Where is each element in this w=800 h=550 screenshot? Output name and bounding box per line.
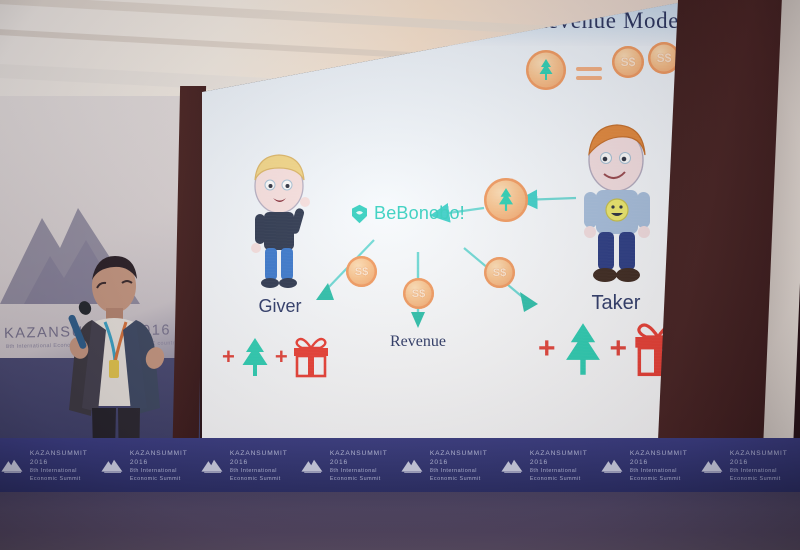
- tree-coin: [484, 178, 528, 222]
- barrier-logo-subtitle: 8th International Economic Summit: [630, 468, 681, 482]
- barrier-logo-subtitle: 8th International Economic Summit: [130, 468, 181, 482]
- barrier-logo-text: KAZANSUMMIT 2016 8th International Econo…: [230, 449, 300, 484]
- barrier-logo-title: KAZANSUMMIT 2016: [30, 449, 100, 468]
- barrier-logo-unit: KAZANSUMMIT 2016 8th International Econo…: [600, 449, 700, 484]
- kazansummit-logo-icon: [500, 455, 524, 477]
- kazansummit-logo-icon: [100, 455, 124, 477]
- barrier-logo-text: KAZANSUMMIT 2016 8th International Econo…: [430, 449, 500, 484]
- plus-sign: +: [538, 334, 556, 364]
- flow-coin-center-label: S$: [412, 288, 425, 300]
- barrier-logo-text: KAZANSUMMIT 2016 8th International Econo…: [30, 449, 100, 484]
- barrier-logo-unit: KAZANSUMMIT 2016 8th International Econo…: [700, 449, 800, 484]
- barrier-logo-unit: KAZANSUMMIT 2016 8th International Econo…: [200, 449, 300, 484]
- kazansummit-logo-icon: [600, 455, 624, 477]
- taker-label: Taker: [564, 292, 668, 315]
- barrier-logo-title: KAZANSUMMIT 2016: [630, 449, 700, 468]
- plus-sign: +: [610, 334, 628, 364]
- barrier-logo-title: KAZANSUMMIT 2016: [730, 449, 800, 468]
- barrier-logo-unit: KAZANSUMMIT 2016 8th International Econo…: [500, 449, 600, 484]
- plus-sign: +: [275, 346, 288, 368]
- giver-reward-group: + +: [222, 336, 331, 378]
- tree-icon: [560, 320, 606, 378]
- plus-sign: +: [222, 346, 235, 368]
- bebonobo-brand: BeBonobo!: [351, 203, 465, 224]
- barrier-logo-subtitle: 8th International Economic Summit: [530, 468, 581, 482]
- shield-icon: [351, 204, 368, 224]
- barrier-logo-unit: KAZANSUMMIT 2016 8th International Econo…: [100, 449, 200, 484]
- barrier-logo-title: KAZANSUMMIT 2016: [130, 449, 200, 468]
- revenue-label: Revenue: [368, 333, 468, 351]
- barrier-logo-text: KAZANSUMMIT 2016 8th International Econo…: [730, 449, 800, 484]
- barrier-logo-text: KAZANSUMMIT 2016 8th International Econo…: [330, 449, 400, 484]
- flow-coin-left: S$: [346, 256, 377, 287]
- flow-coin-left-label: S$: [355, 266, 368, 278]
- flow-coin-center: S$: [403, 278, 434, 309]
- bebonobo-brand-label: BeBonobo!: [374, 203, 465, 224]
- barrier-logo-row: KAZANSUMMIT 2016 8th International Econo…: [0, 438, 800, 494]
- floor-reflection: [0, 492, 800, 550]
- flow-coin-right: S$: [484, 257, 515, 288]
- barrier-logo-subtitle: 8th International Economic Summit: [330, 468, 381, 482]
- kazansummit-logo-icon: [0, 455, 24, 477]
- taker-character: [564, 118, 668, 288]
- arrow-brand-to-taker-head: [520, 292, 538, 312]
- kazansummit-logo-icon: [300, 455, 324, 477]
- kazansummit-logo-icon: [700, 455, 724, 477]
- kazansummit-logo-icon: [400, 455, 424, 477]
- giver-character: [236, 150, 322, 290]
- barrier-logo-unit: KAZANSUMMIT 2016 8th International Econo…: [0, 449, 100, 484]
- giver-label: Giver: [232, 296, 328, 317]
- barrier-logo-title: KAZANSUMMIT 2016: [430, 449, 500, 468]
- barrier-logo-title: KAZANSUMMIT 2016: [330, 449, 400, 468]
- barrier-logo-text: KAZANSUMMIT 2016 8th International Econo…: [130, 449, 200, 484]
- presentation-photo: KAZANSUMMIT 2016 8th International Econo…: [0, 0, 800, 550]
- barrier-logo-subtitle: 8th International Economic Summit: [730, 468, 781, 482]
- tree-icon: [238, 336, 272, 378]
- stage-barrier: KAZANSUMMIT 2016 8th International Econo…: [0, 438, 800, 494]
- barrier-logo-title: KAZANSUMMIT 2016: [530, 449, 600, 468]
- gift-icon: [291, 336, 331, 378]
- barrier-logo-subtitle: 8th International Economic Summit: [230, 468, 281, 482]
- barrier-logo-subtitle: 8th International Economic Summit: [430, 468, 481, 482]
- barrier-logo-text: KAZANSUMMIT 2016 8th International Econo…: [630, 449, 700, 484]
- arrow-revenue-down-head: [411, 312, 425, 328]
- barrier-logo-title: KAZANSUMMIT 2016: [230, 449, 300, 468]
- barrier-logo-unit: KAZANSUMMIT 2016 8th International Econo…: [400, 449, 500, 484]
- flow-coin-right-label: S$: [493, 267, 506, 279]
- barrier-logo-subtitle: 8th International Economic Summit: [30, 468, 81, 482]
- stage-floor: [0, 492, 800, 550]
- tree-icon: [495, 187, 517, 213]
- barrier-logo-unit: KAZANSUMMIT 2016 8th International Econo…: [300, 449, 400, 484]
- kazansummit-logo-icon: [200, 455, 224, 477]
- barrier-logo-text: KAZANSUMMIT 2016 8th International Econo…: [530, 449, 600, 484]
